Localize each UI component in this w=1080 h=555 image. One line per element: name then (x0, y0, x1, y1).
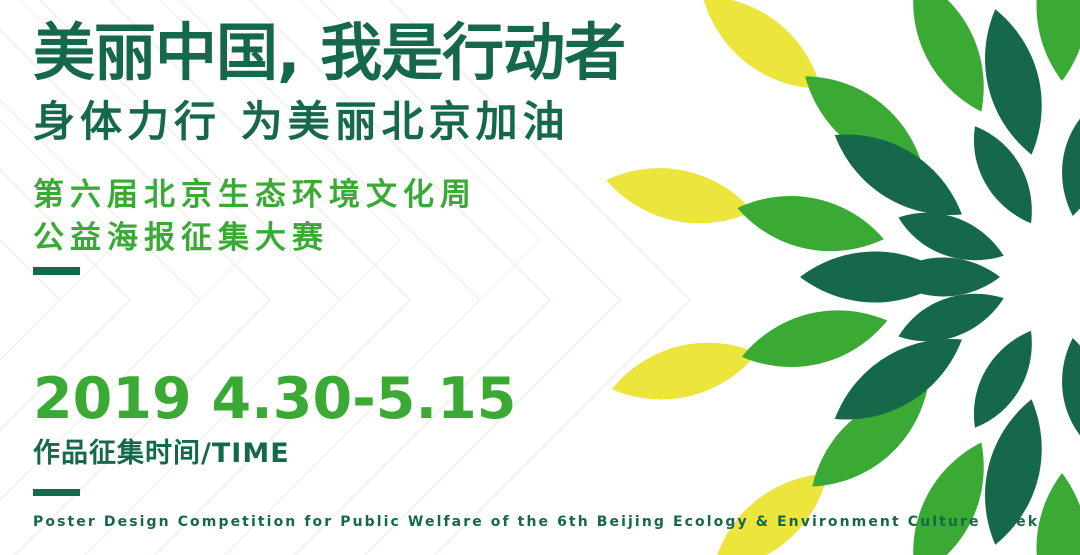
divider-rule-top (33, 267, 80, 275)
event-name-line-1: 第六届北京生态环境文化周 (33, 180, 477, 211)
page-subtitle: 身体力行 为美丽北京加油 (33, 101, 570, 143)
divider-rule-bottom (33, 489, 80, 496)
event-name-line-2: 公益海报征集大赛 (33, 223, 329, 254)
english-tagline: Poster Design Competition for Public Wel… (33, 515, 1039, 529)
submission-date-range: 2019 4.30-5.15 (33, 371, 516, 428)
submission-time-label: 作品征集时间/TIME (33, 440, 290, 467)
poster-text-block: 美丽中国, 我是行动者 身体力行 为美丽北京加油 第六届北京生态环境文化周 公益… (0, 0, 700, 555)
poster-canvas: 美丽中国, 我是行动者 身体力行 为美丽北京加油 第六届北京生态环境文化周 公益… (0, 0, 1080, 555)
page-title: 美丽中国, 我是行动者 (33, 22, 625, 84)
